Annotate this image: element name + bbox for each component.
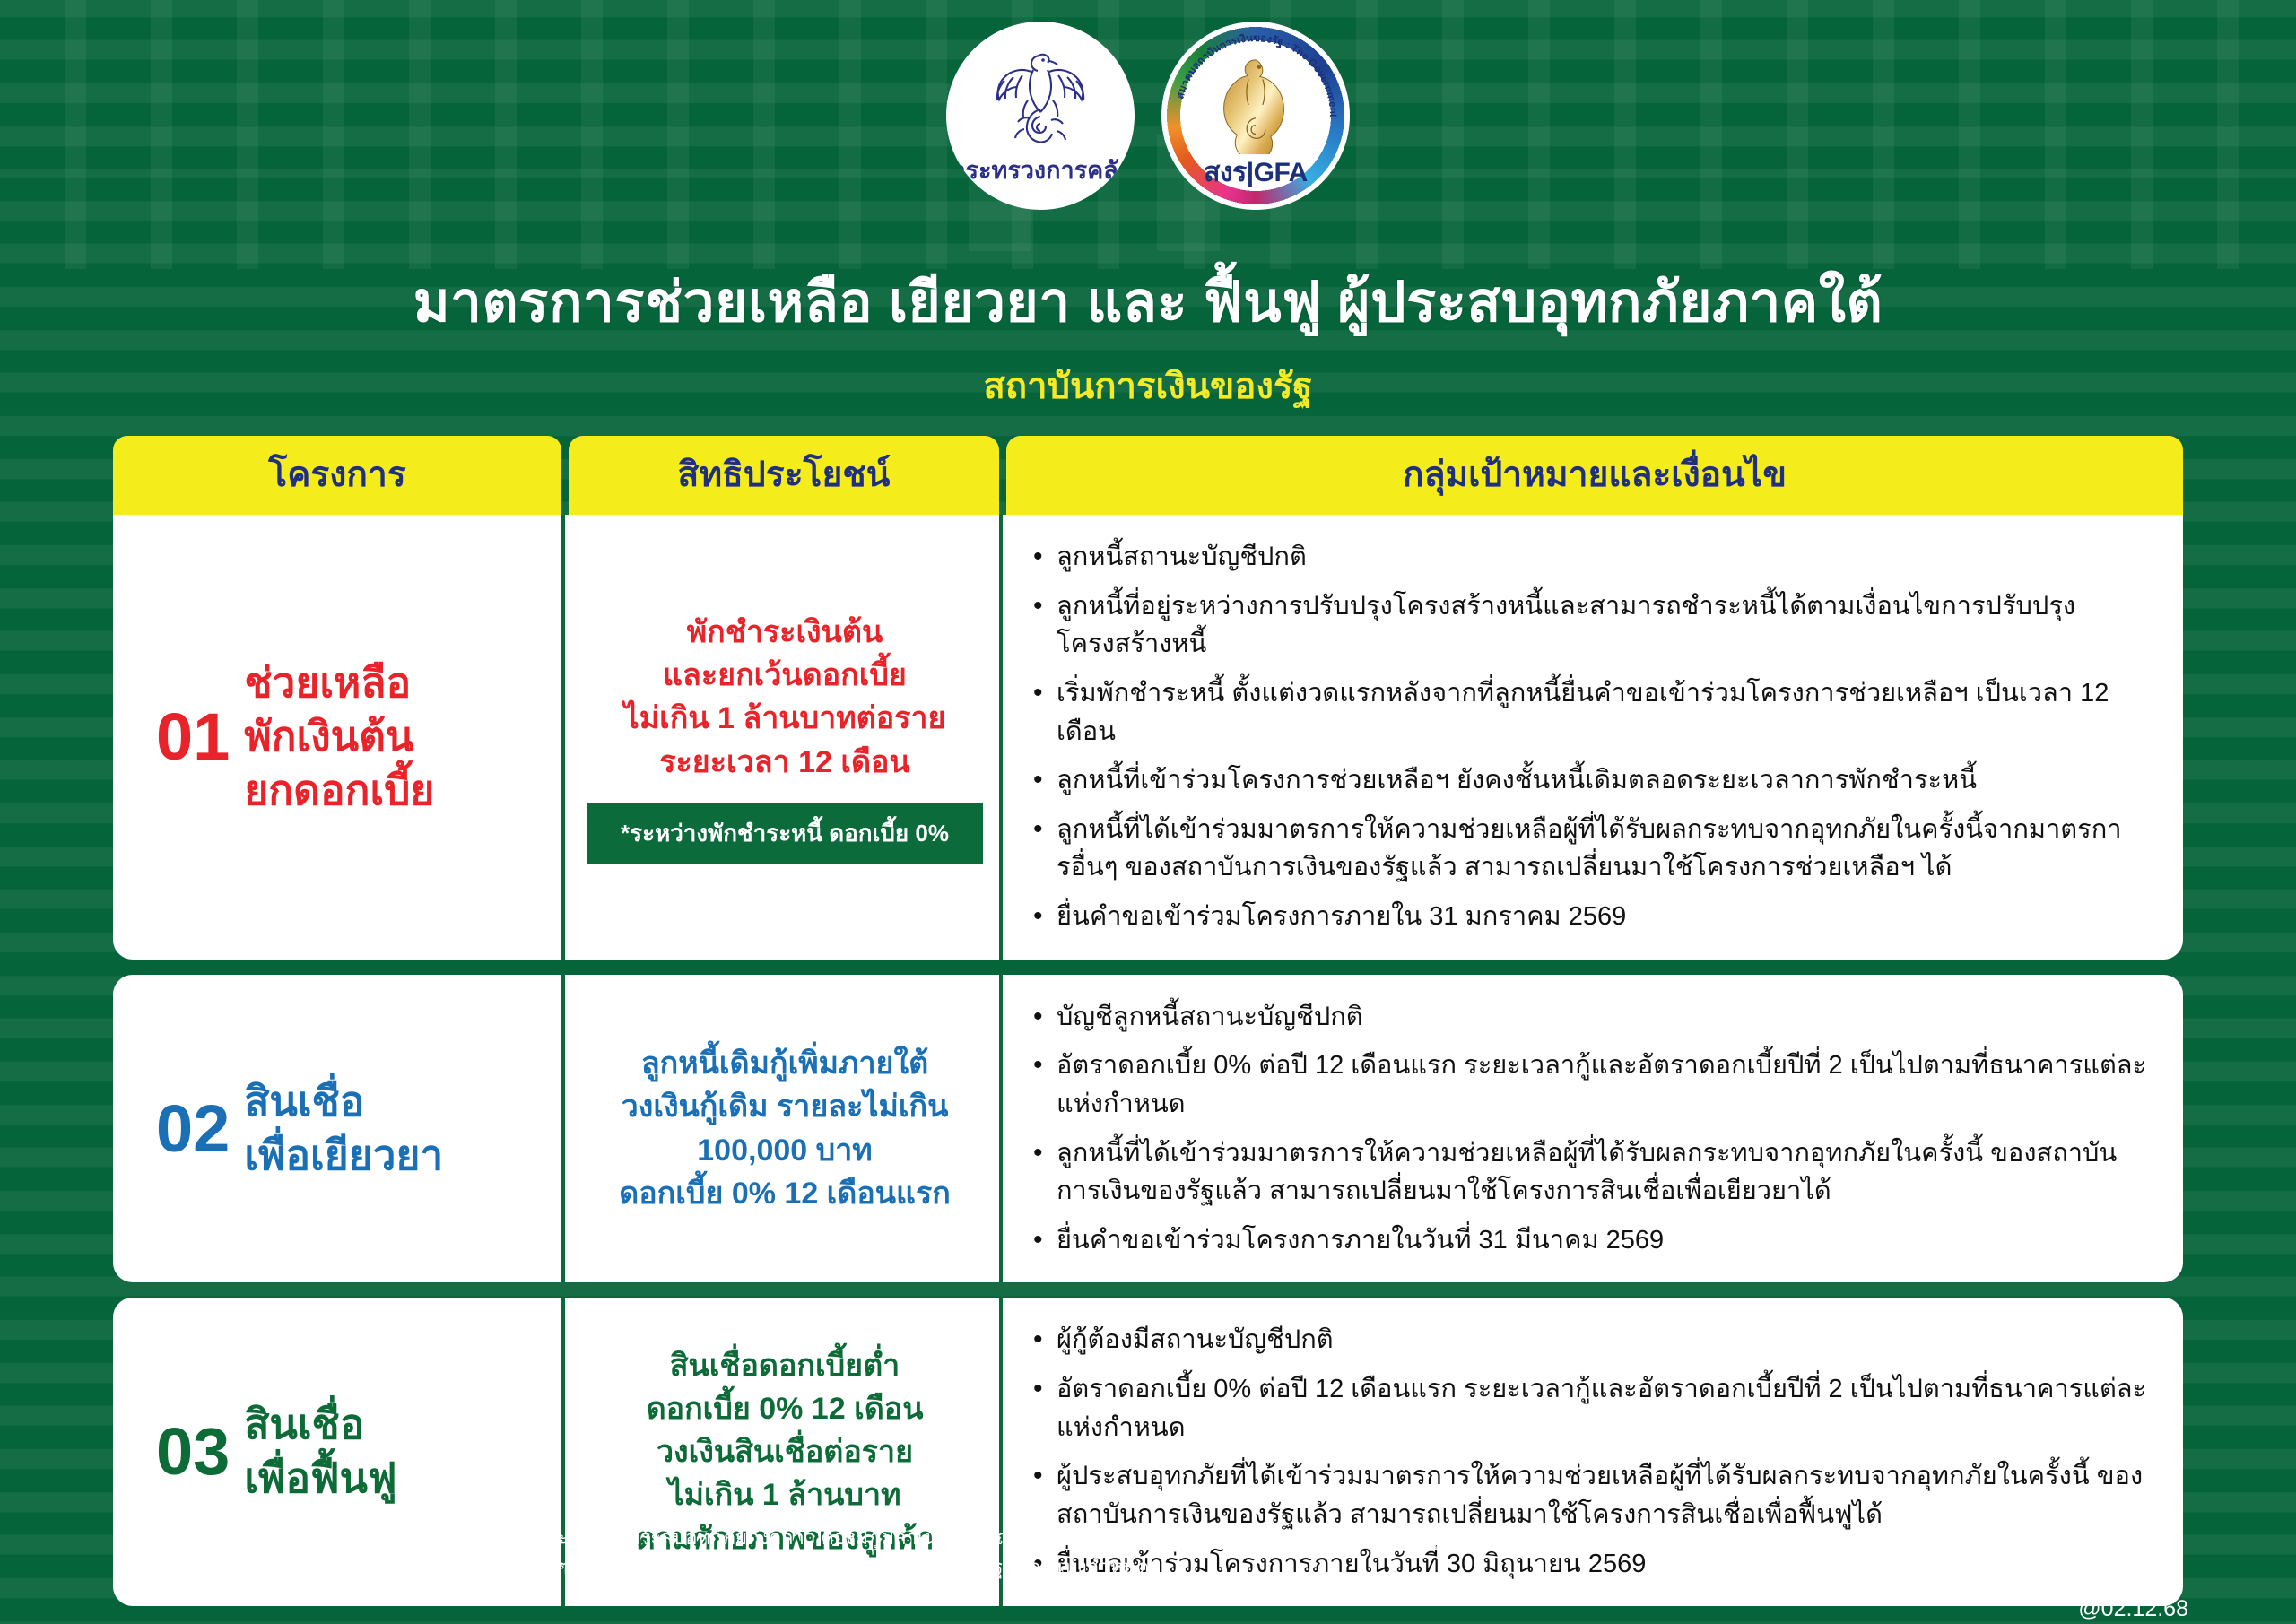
footer: *ผู้ที่ประสงค์เข้าร่วมโครงการช่วยเหลือ เ… <box>135 1523 2188 1622</box>
page-subtitle: สถาบันการเงินของรัฐ <box>0 357 2296 414</box>
condition-item: ยื่นคำขอเข้าร่วมโครงการภายใน 31 มกราคม 2… <box>1030 898 2152 936</box>
project-name: ช่วยเหลือพักเงินต้นยกดอกเบี้ย <box>244 656 434 817</box>
benefit-cell: พักชำระเงินต้นและยกเว้นดอกเบี้ยไม่เกิน 1… <box>561 515 999 960</box>
logo-bar: กระทรวงการคลัง สมาคมสถาบันการเงินของรัฐ … <box>0 22 2296 210</box>
benefit-badge: *ระหว่างพักชำระหนี้ ดอกเบี้ย 0% <box>587 803 983 864</box>
benefit-cell: ลูกหนี้เดิมกู้เพิ่มภายใต้วงเงินกู้เดิม ร… <box>561 975 999 1283</box>
table-row: 01 ช่วยเหลือพักเงินต้นยกดอกเบี้ย พักชำระ… <box>113 515 2183 960</box>
project-number: 01 <box>156 704 230 770</box>
condition-item: อัตราดอกเบี้ย 0% ต่อปี 12 เดือนแรก ระยะเ… <box>1030 1046 2152 1123</box>
condition-item: ผู้กู้ต้องมีสถานะบัญชีปกติ <box>1030 1321 2152 1359</box>
table-row: 02 สินเชื่อเพื่อเยียวยา ลูกหนี้เดิมกู้เพ… <box>113 975 2183 1283</box>
ministry-of-finance-logo: กระทรวงการคลัง <box>946 22 1135 210</box>
measures-table: โครงการ สิทธิประโยชน์ กลุ่มเป้าหมายและเง… <box>113 436 2183 1621</box>
condition-item: ลูกหนี้ที่ได้เข้าร่วมมาตรการให้ความช่วยเ… <box>1030 1134 2152 1211</box>
condition-item: ลูกหนี้ที่เข้าร่วมโครงการช่วยเหลือฯ ยังค… <box>1030 761 2152 800</box>
condition-item: ลูกหนี้ที่อยู่ระหว่างการปรับปรุงโครงสร้า… <box>1030 587 2152 664</box>
project-name: สินเชื่อเพื่อฟื้นฟู <box>244 1398 396 1506</box>
conditions-list: ลูกหนี้สถานะบัญชีปกติลูกหนี้ที่อยู่ระหว่… <box>1030 538 2152 936</box>
garuda-icon <box>987 48 1094 149</box>
benefit-text: พักชำระเงินต้นและยกเว้นดอกเบี้ยไม่เกิน 1… <box>624 611 946 784</box>
table-header-row: โครงการ สิทธิประโยชน์ กลุ่มเป้าหมายและเง… <box>113 436 2183 515</box>
project-number: 02 <box>156 1096 230 1162</box>
benefit-text: ลูกหนี้เดิมกู้เพิ่มภายใต้วงเงินกู้เดิม ร… <box>619 1042 951 1215</box>
column-header-benefit: สิทธิประโยชน์ <box>569 436 999 515</box>
mof-logo-label: กระทรวงการคลัง <box>951 151 1130 189</box>
gfa-logo-label: สงร|GFA <box>1204 152 1308 194</box>
condition-item: ยื่นคำขอเข้าร่วมโครงการภายในวันที่ 31 มี… <box>1030 1221 2152 1260</box>
project-cell: 02 สินเชื่อเพื่อเยียวยา <box>113 975 561 1283</box>
project-cell: 01 ช่วยเหลือพักเงินต้นยกดอกเบี้ย <box>113 515 561 960</box>
project-number: 03 <box>156 1419 230 1485</box>
condition-item: ลูกหนี้สถานะบัญชีปกติ <box>1030 538 2152 577</box>
footer-date: @02.12.68 <box>135 1596 2188 1622</box>
condition-item: อัตราดอกเบี้ย 0% ต่อปี 12 เดือนแรก ระยะเ… <box>1030 1370 2152 1446</box>
conditions-cell: บัญชีลูกหนี้สถานะบัญชีปกติอัตราดอกเบี้ย … <box>999 975 2183 1283</box>
conditions-list: บัญชีลูกหนี้สถานะบัญชีปกติอัตราดอกเบี้ย … <box>1030 998 2152 1260</box>
page-title: มาตรการช่วยเหลือ เยียวยา และ ฟื้นฟู ผู้ป… <box>0 258 2296 346</box>
gfa-logo: สมาคมสถาบันการเงินของรัฐ : The Governmen… <box>1161 22 1350 210</box>
condition-item: เริ่มพักชำระหนี้ ตั้งแต่งวดแรกหลังจากที่… <box>1030 674 2152 751</box>
column-header-conditions: กลุ่มเป้าหมายและเงื่อนไข <box>1006 436 2183 515</box>
gfa-garuda-icon <box>1203 54 1309 154</box>
project-name: สินเชื่อเพื่อเยียวยา <box>244 1075 443 1183</box>
condition-item: บัญชีลูกหนี้สถานะบัญชีปกติ <box>1030 998 2152 1037</box>
conditions-cell: ลูกหนี้สถานะบัญชีปกติลูกหนี้ที่อยู่ระหว่… <box>999 515 2183 960</box>
footer-note: *ผู้ที่ประสงค์เข้าร่วมโครงการช่วยเหลือ เ… <box>135 1523 2188 1582</box>
condition-item: ลูกหนี้ที่ได้เข้าร่วมมาตรการให้ความช่วยเ… <box>1030 811 2152 887</box>
column-header-project: โครงการ <box>113 436 561 515</box>
